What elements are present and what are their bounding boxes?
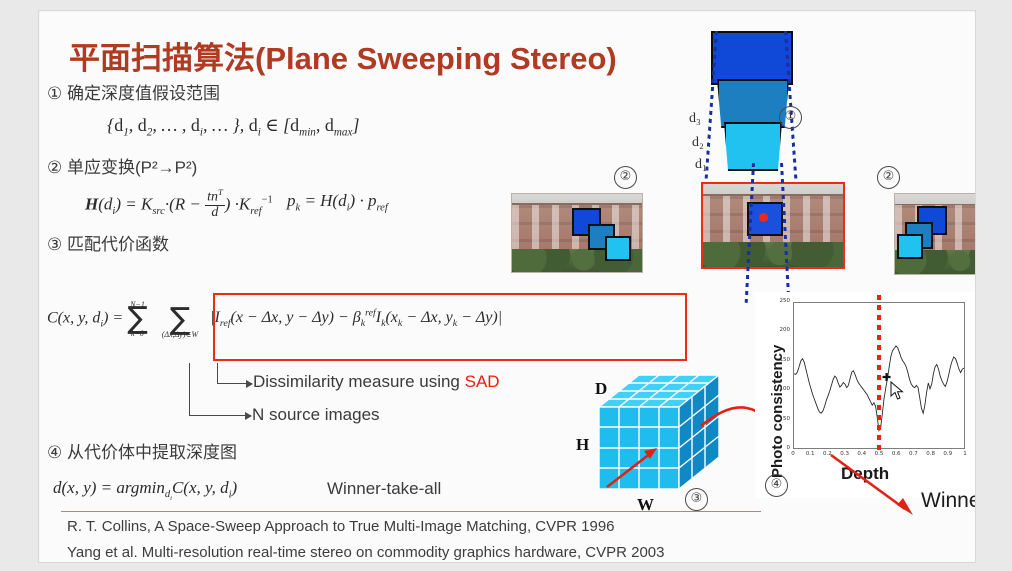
chart-xtick: 0.1 — [803, 451, 817, 457]
depth-label-d2: d₂ — [692, 135, 704, 151]
step-2: ② 单应变换(P²→P²) — [47, 153, 197, 178]
winner-take-all-label: Winner-take-all — [327, 479, 441, 499]
badge-2-left: ② — [614, 166, 637, 189]
step-4-marker: ④ — [47, 443, 62, 462]
depth-label-d1: d₁ — [695, 157, 707, 173]
step-2-label: 单应变换(P²→P²) — [67, 158, 197, 177]
chart-xtick: 0.9 — [941, 451, 955, 457]
source-image-right — [894, 193, 976, 275]
chart-ytick: 50 — [776, 416, 790, 422]
cube-label-width: W — [637, 495, 654, 515]
chart-ylabel: Photo consistency — [769, 345, 786, 478]
chart-ytick: 200 — [776, 327, 790, 333]
depth-plane-d2 — [717, 79, 789, 128]
cost-highlight-box — [213, 293, 687, 361]
mouse-cursor — [890, 381, 906, 399]
cube-front-face — [599, 407, 679, 489]
step-2-marker: ② — [47, 158, 62, 177]
sad-label: SAD — [465, 372, 500, 391]
badge-3: ③ — [685, 488, 708, 511]
chart-xtick: 0 — [786, 451, 800, 457]
formula-projection: pk = H(di) · pref — [287, 191, 388, 213]
warped-patch-d1 — [605, 236, 631, 261]
citation-2: Yang et al. Multi-resolution real-time s… — [67, 544, 665, 561]
source-image-left — [511, 193, 643, 273]
crosshair-icon: ✚ — [882, 371, 891, 384]
chart-ytick: 150 — [776, 357, 790, 363]
chart-plot-area: ✚ — [793, 302, 965, 449]
step-3-label: 匹配代价函数 — [67, 235, 169, 254]
chart-xtick: 1 — [958, 451, 972, 457]
step-1: ① 确定深度值假设范围 — [47, 79, 220, 104]
depth-label-d3: d₃ — [689, 111, 701, 127]
arrow-to-n-source — [189, 415, 251, 416]
formula-homography: H(di) = Ksrc·(R − tnTd) ·Kref−1 — [85, 189, 273, 222]
reference-image — [701, 182, 845, 269]
step-4-label: 从代价体中提取深度图 — [67, 443, 237, 462]
cube-label-depth: D — [595, 379, 607, 399]
annotation-bracket — [189, 363, 190, 415]
badge-1: ① — [779, 106, 802, 129]
step-1-label: 确定深度值假设范围 — [67, 84, 220, 103]
formula-depth-set: {d1, d2, … , di, … }, di ∈ [dmin, dmax] — [107, 115, 359, 139]
photo-trees — [703, 242, 843, 267]
step-4: ④ 从代价体中提取深度图 — [47, 438, 237, 463]
step-3-marker: ③ — [47, 235, 62, 254]
n-source-annotation: N source images — [252, 405, 380, 425]
badge-4: ④ — [765, 474, 788, 497]
formula-argmin: d(x, y) = argmindiC(x, y, di) — [53, 478, 237, 503]
arrow-to-dissimilarity — [217, 383, 252, 384]
citation-1: R. T. Collins, A Space-Sweep Approach to… — [67, 518, 615, 535]
cube-label-height: H — [576, 435, 589, 455]
dissimilarity-annotation: Dissimilarity measure using SAD — [253, 372, 500, 392]
warped-patch-d1 — [897, 234, 923, 259]
chart-ytick: 250 — [776, 298, 790, 304]
dissimilarity-text: Dissimilarity measure using — [253, 372, 465, 391]
slide-canvas: 平面扫描算法(Plane Sweeping Stereo) ① 确定深度值假设范… — [38, 10, 976, 563]
winner-label: Winner — [921, 489, 976, 513]
badge-2-right: ② — [877, 166, 900, 189]
depth-plane-d3 — [711, 31, 793, 85]
reference-marker-dot — [759, 213, 768, 222]
annotation-bracket-inner — [217, 363, 218, 383]
step-1-marker: ① — [47, 84, 62, 103]
winner-marker-line — [877, 295, 881, 455]
page-title: 平面扫描算法(Plane Sweeping Stereo) — [69, 33, 617, 78]
step-3: ③ 匹配代价函数 — [47, 230, 169, 255]
chart-ytick: 100 — [776, 386, 790, 392]
